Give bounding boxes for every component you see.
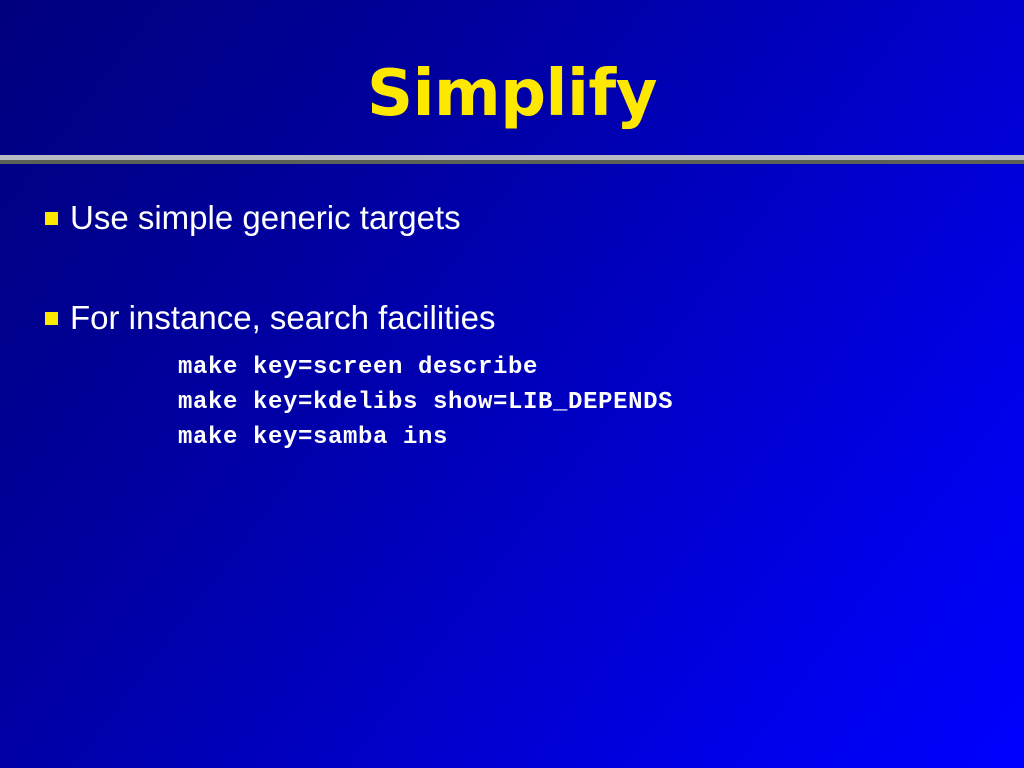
slide-title-area: Simplify xyxy=(0,62,1024,126)
code-line: make key=kdelibs show=LIB_DEPENDS xyxy=(178,385,1024,420)
divider-shadow-edge xyxy=(0,160,1024,164)
bullet-item-2-label: For instance, search facilities xyxy=(70,298,1024,338)
title-divider-rule xyxy=(0,155,1024,164)
presentation-slide: Simplify Use simple generic targets For … xyxy=(0,0,1024,768)
slide-title: Simplify xyxy=(367,62,657,126)
square-bullet-icon xyxy=(45,312,58,325)
bullet-item-2: For instance, search facilities xyxy=(0,298,1024,338)
bullet-item-1-label: Use simple generic targets xyxy=(70,198,1024,238)
code-line: make key=screen describe xyxy=(178,350,1024,385)
code-line: make key=samba ins xyxy=(178,420,1024,455)
square-bullet-icon xyxy=(45,212,58,225)
code-example-block: make key=screen describe make key=kdelib… xyxy=(0,350,1024,455)
bullet-item-1: Use simple generic targets xyxy=(0,198,1024,238)
slide-body: Use simple generic targets For instance,… xyxy=(0,186,1024,455)
